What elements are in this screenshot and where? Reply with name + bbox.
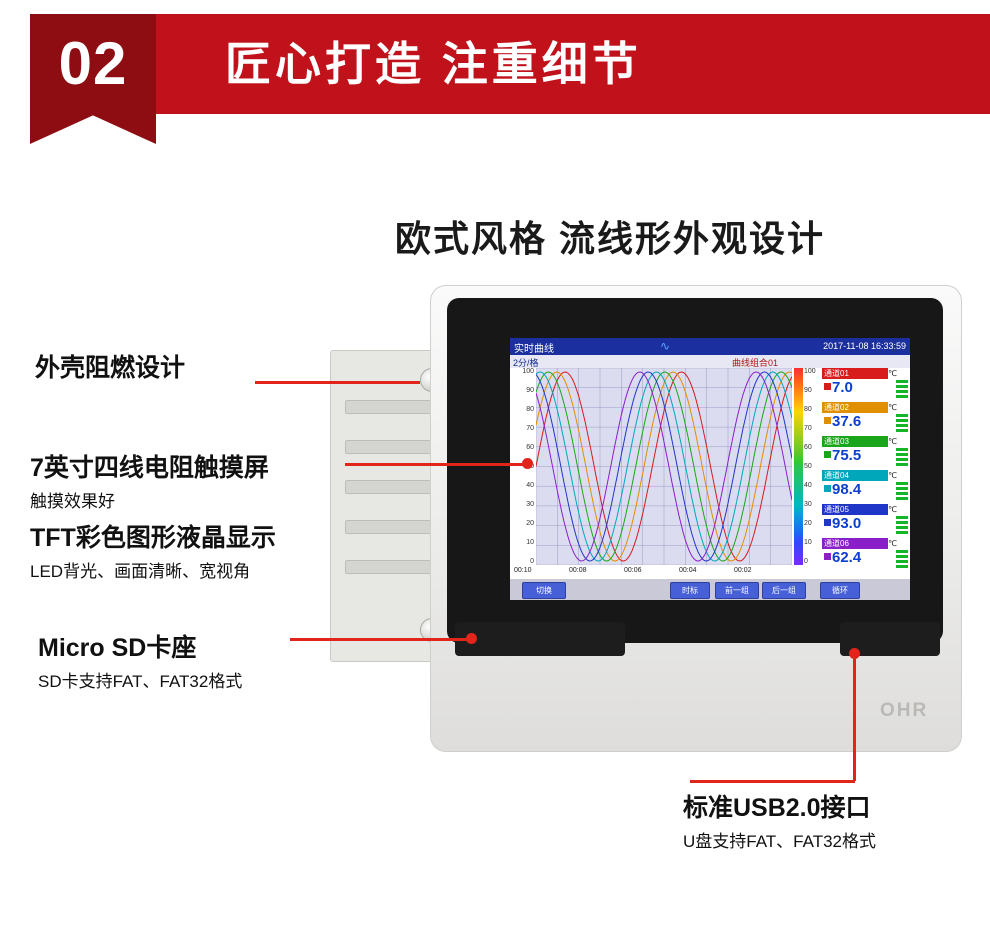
- time-axis-labels: 00:1000:0800:0600:0400:02: [510, 566, 910, 579]
- annotation-1-title: 7英寸四线电阻触摸屏: [30, 448, 269, 484]
- channel-readout[interactable]: 通道03℃75.5: [822, 436, 910, 470]
- channel-name: 通道06: [822, 538, 888, 549]
- channel-bar-indicator: [896, 516, 908, 536]
- y-axis-tick: 10: [526, 539, 534, 546]
- channel-name: 通道02: [822, 402, 888, 413]
- annotation-4-leader: [690, 780, 855, 783]
- channel-name: 通道03: [822, 436, 888, 447]
- time-tick: 00:10: [514, 567, 532, 574]
- channel-unit: ℃: [888, 368, 897, 379]
- channel-bar-indicator: [896, 414, 908, 434]
- y-axis-tick: 20: [526, 520, 534, 527]
- channel-value: 93.0: [832, 515, 861, 532]
- time-tick: 00:02: [734, 567, 752, 574]
- annotation-4-sub: U盘支持FAT、FAT32格式: [683, 827, 876, 852]
- annotation-4-leader-vertical: [853, 653, 856, 781]
- lcd-title: 实时曲线: [514, 340, 554, 355]
- annotation-2-title: TFT彩色图形液晶显示: [30, 518, 276, 554]
- annotation-4-title: 标准USB2.0接口: [683, 788, 876, 824]
- lcd-button-bar[interactable]: 切换时标前一组后一组循环: [510, 579, 910, 600]
- channel-name: 通道04: [822, 470, 888, 481]
- annotation-0-leader: [255, 381, 420, 384]
- scale-tick: 80: [804, 406, 812, 413]
- scale-tick: 50: [804, 463, 812, 470]
- channel-readout[interactable]: 通道01℃7.0: [822, 368, 910, 402]
- channel-unit: ℃: [888, 504, 897, 515]
- channel-unit: ℃: [888, 538, 897, 549]
- y-axis-tick: 90: [526, 387, 534, 394]
- channel-readout[interactable]: 通道05℃93.0: [822, 504, 910, 538]
- trend-curves: [536, 368, 792, 565]
- time-tick: 00:04: [679, 567, 697, 574]
- annotation-2: TFT彩色图形液晶显示 LED背光、画面清晰、宽视角: [30, 518, 276, 582]
- channel-color-swatch: [824, 417, 831, 424]
- channel-bar-indicator: [896, 380, 908, 400]
- scale-tick-labels: 1009080706050403020100: [804, 368, 820, 565]
- channel-value: 62.4: [832, 549, 861, 566]
- wave-logo-icon: ∿: [660, 339, 670, 353]
- annotation-2-sub: LED背光、画面清晰、宽视角: [30, 557, 276, 582]
- channel-unit: ℃: [888, 436, 897, 447]
- lcd-button-1[interactable]: 切换: [522, 582, 566, 599]
- scale-tick: 90: [804, 387, 812, 394]
- channel-readout[interactable]: 通道04℃98.4: [822, 470, 910, 504]
- annotation-3-sub: SD卡支持FAT、FAT32格式: [38, 667, 242, 692]
- channel-value: 98.4: [832, 481, 861, 498]
- annotation-0: 外壳阻燃设计: [35, 348, 185, 384]
- channel-name: 通道05: [822, 504, 888, 515]
- page-subtitle: 欧式风格 流线形外观设计: [395, 210, 825, 262]
- channel-value: 37.6: [832, 413, 861, 430]
- channel-color-swatch: [824, 485, 831, 492]
- channel-value: 75.5: [832, 447, 861, 464]
- annotation-1-marker: [522, 458, 533, 469]
- lcd-button-3[interactable]: 前一组: [715, 582, 759, 599]
- annotation-1-sub: 触摸效果好: [30, 487, 269, 512]
- channel-color-swatch: [824, 451, 831, 458]
- channel-unit: ℃: [888, 470, 897, 481]
- header-title: 匠心打造 注重细节: [225, 14, 642, 114]
- annotation-0-title: 外壳阻燃设计: [35, 348, 185, 384]
- scale-tick: 30: [804, 501, 812, 508]
- channel-unit: ℃: [888, 402, 897, 413]
- sd-card-slot[interactable]: [455, 622, 625, 656]
- scale-tick: 100: [804, 368, 816, 375]
- lcd-button-5[interactable]: 循环: [820, 582, 860, 599]
- lcd-subbar: 2分/格 曲线组合01: [510, 355, 910, 368]
- color-scale-bar: [794, 368, 803, 565]
- scale-tick: 10: [804, 539, 812, 546]
- channel-color-swatch: [824, 519, 831, 526]
- scale-tick: 40: [804, 482, 812, 489]
- y-axis-tick: 70: [526, 425, 534, 432]
- brand-logo: OHR: [880, 700, 928, 722]
- channel-name: 通道01: [822, 368, 888, 379]
- header-number: 02: [30, 14, 156, 114]
- y-axis-tick: 0: [530, 558, 534, 565]
- annotation-1: 7英寸四线电阻触摸屏 触摸效果好: [30, 448, 269, 512]
- channel-bar-indicator: [896, 482, 908, 502]
- annotation-3-title: Micro SD卡座: [38, 628, 242, 664]
- channel-readout-panel: 通道01℃7.0通道02℃37.6通道03℃75.5通道04℃98.4通道05℃…: [822, 368, 910, 576]
- annotation-4: 标准USB2.0接口 U盘支持FAT、FAT32格式: [683, 788, 876, 852]
- time-tick: 00:08: [569, 567, 587, 574]
- scale-tick: 0: [804, 558, 808, 565]
- scale-tick: 20: [804, 520, 812, 527]
- trend-plot-area: [536, 368, 792, 565]
- lcd-button-2[interactable]: 时标: [670, 582, 710, 599]
- lcd-titlebar: 实时曲线 ∿ 2017-11-08 16:33:59: [510, 338, 910, 355]
- y-axis-tick: 60: [526, 444, 534, 451]
- y-axis-tick: 100: [522, 368, 534, 375]
- y-axis-tick: 40: [526, 482, 534, 489]
- scale-tick: 70: [804, 425, 812, 432]
- channel-bar-indicator: [896, 448, 908, 468]
- annotation-3-leader: [290, 638, 475, 641]
- lcd-button-4[interactable]: 后一组: [762, 582, 806, 599]
- channel-color-swatch: [824, 383, 831, 390]
- channel-value: 7.0: [832, 379, 853, 396]
- time-tick: 00:06: [624, 567, 642, 574]
- lcd-datetime: 2017-11-08 16:33:59: [823, 341, 906, 351]
- y-axis-tick: 80: [526, 406, 534, 413]
- channel-readout[interactable]: 通道02℃37.6: [822, 402, 910, 436]
- annotation-1-leader: [345, 463, 530, 466]
- scale-tick: 60: [804, 444, 812, 451]
- annotation-3-marker: [466, 633, 477, 644]
- annotation-3: Micro SD卡座 SD卡支持FAT、FAT32格式: [38, 628, 242, 692]
- lcd-screen[interactable]: 实时曲线 ∿ 2017-11-08 16:33:59 2分/格 曲线组合01 1…: [510, 338, 910, 600]
- channel-color-swatch: [824, 553, 831, 560]
- y-axis-tick: 30: [526, 501, 534, 508]
